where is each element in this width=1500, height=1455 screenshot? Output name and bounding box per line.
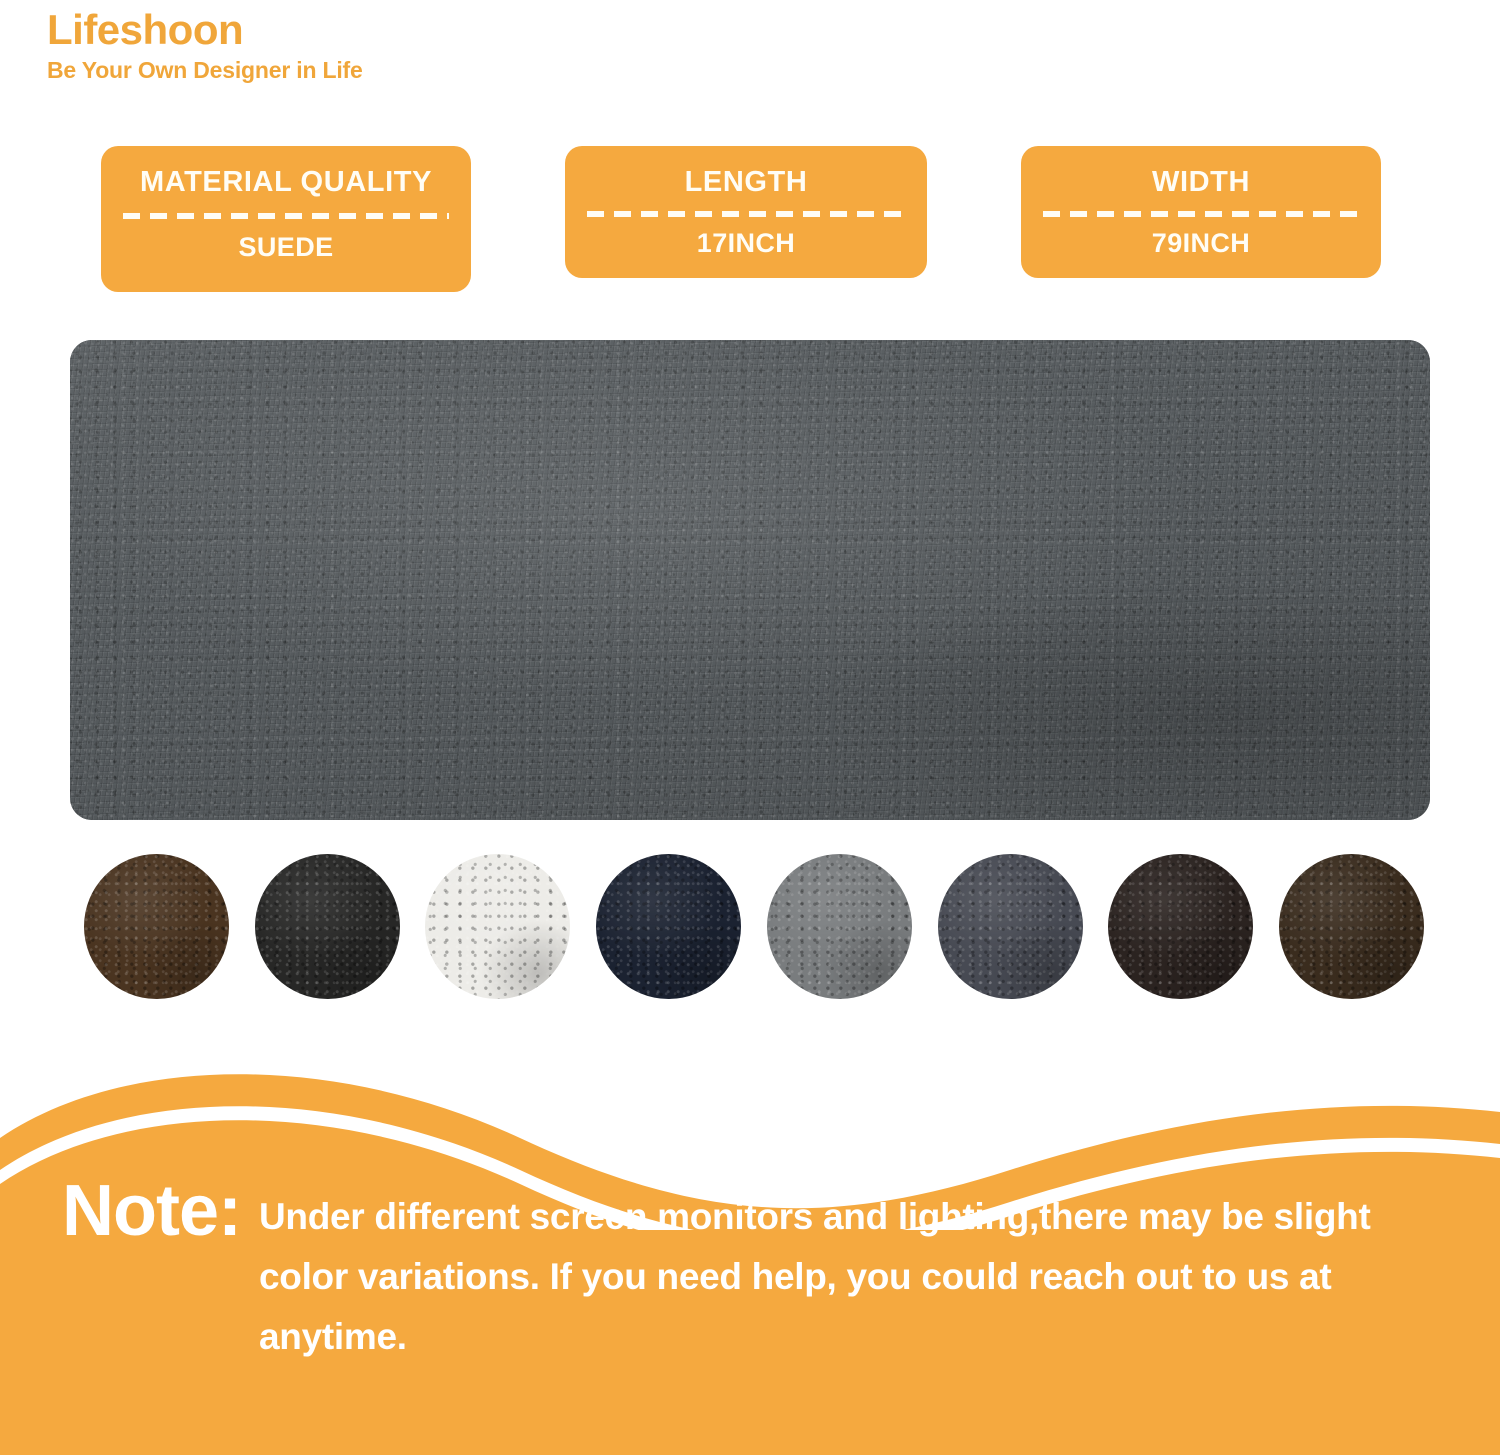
- color-swatch-dark-brown[interactable]: [84, 854, 229, 999]
- spec-value-width: 79INCH: [1041, 230, 1361, 257]
- color-swatch-cream-white[interactable]: [425, 854, 570, 999]
- brand-name: Lifeshoon: [47, 8, 747, 52]
- note-label: Note:: [62, 1175, 241, 1247]
- color-swatch-black[interactable]: [255, 854, 400, 999]
- swatch-shading: [596, 854, 741, 999]
- note-content: Note: Under different screen monitors an…: [0, 1175, 1500, 1367]
- color-swatch-row: [84, 854, 1424, 999]
- note-text: Under different screen monitors and ligh…: [259, 1175, 1389, 1367]
- spec-label-length: LENGTH: [585, 168, 907, 197]
- spec-badge-row: MATERIAL QUALITY SUEDE LENGTH 17INCH WID…: [101, 146, 1381, 292]
- spec-label-material-quality: MATERIAL QUALITY: [121, 168, 451, 197]
- spec-value-material-quality: SUEDE: [121, 234, 451, 261]
- spec-label-width: WIDTH: [1041, 168, 1361, 197]
- dashed-divider-icon: [587, 211, 905, 217]
- color-swatch-medium-gray[interactable]: [767, 854, 912, 999]
- swatch-shading: [1108, 854, 1253, 999]
- spec-badge-material-quality: MATERIAL QUALITY SUEDE: [101, 146, 471, 292]
- swatch-shading: [938, 854, 1083, 999]
- dashed-divider-icon: [123, 213, 449, 219]
- color-swatch-espresso[interactable]: [1108, 854, 1253, 999]
- product-photo-rug: [70, 340, 1430, 820]
- swatch-shading: [1279, 854, 1424, 999]
- swatch-shading: [425, 854, 570, 999]
- swatch-shading: [767, 854, 912, 999]
- swatch-shading: [255, 854, 400, 999]
- dashed-divider-icon: [1043, 211, 1359, 217]
- color-swatch-coffee-brown[interactable]: [1279, 854, 1424, 999]
- swatch-shading: [84, 854, 229, 999]
- color-swatch-charcoal-gray[interactable]: [938, 854, 1083, 999]
- spec-badge-width: WIDTH 79INCH: [1021, 146, 1381, 278]
- color-swatch-navy[interactable]: [596, 854, 741, 999]
- spec-value-length: 17INCH: [585, 230, 907, 257]
- spec-badge-length: LENGTH 17INCH: [565, 146, 927, 278]
- brand-tagline: Be Your Own Designer in Life: [47, 58, 747, 83]
- rug-sheen-layer: [70, 340, 1430, 820]
- brand-header: Lifeshoon Be Your Own Designer in Life: [47, 8, 747, 83]
